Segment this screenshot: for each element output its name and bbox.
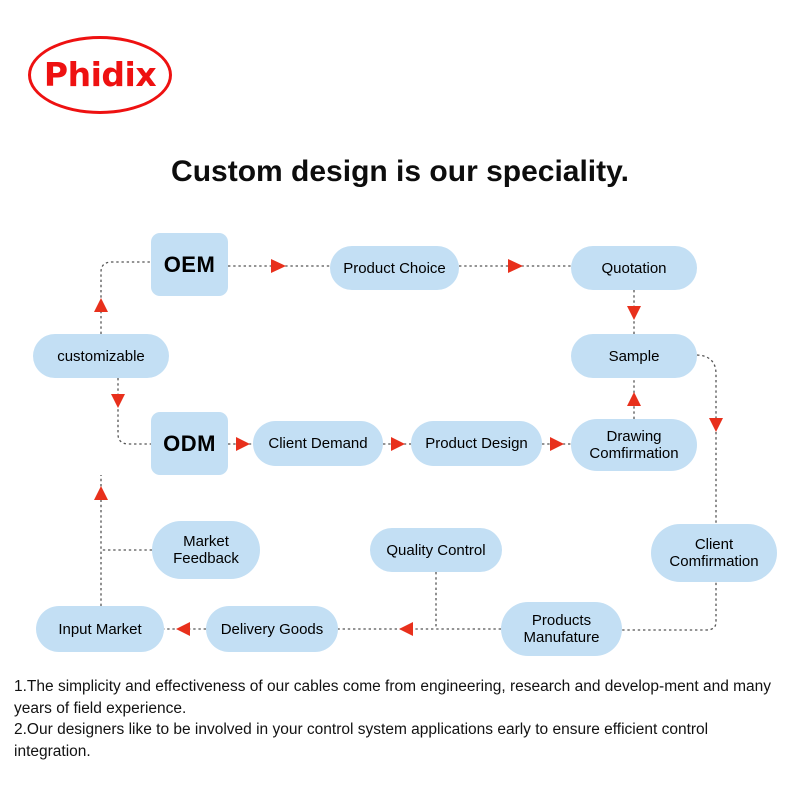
- arrowhead-odm-client-demand: [236, 437, 250, 451]
- node-products-manufature[interactable]: ProductsManufature: [501, 602, 622, 656]
- arrowhead-customizable-oem: [94, 298, 108, 312]
- node-product-design[interactable]: Product Design: [411, 421, 542, 466]
- node-odm[interactable]: ODM: [151, 412, 228, 475]
- node-client-comfirmation[interactable]: ClientComfirmation: [651, 524, 777, 582]
- node-quotation[interactable]: Quotation: [571, 246, 697, 290]
- arrowhead-product-choice-quotation: [508, 259, 523, 273]
- node-product-choice[interactable]: Product Choice: [330, 246, 459, 290]
- edge-customizable-oem: [101, 262, 151, 334]
- node-client-demand[interactable]: Client Demand: [253, 421, 383, 466]
- footer-note-2: 2.Our designers like to be involved in y…: [14, 719, 788, 762]
- node-delivery-goods[interactable]: Delivery Goods: [206, 606, 338, 652]
- node-oem[interactable]: OEM: [151, 233, 228, 296]
- node-market-feedback[interactable]: MarketFeedback: [152, 521, 260, 579]
- footer-notes: 1.The simplicity and effectiveness of ou…: [14, 676, 788, 762]
- arrowhead-product-design-drawing: [550, 437, 564, 451]
- arrowhead-drawing-sample: [627, 392, 641, 406]
- arrowhead-products-delivery: [399, 622, 413, 636]
- node-quality-control[interactable]: Quality Control: [370, 528, 502, 572]
- footer-note-1: 1.The simplicity and effectiveness of ou…: [14, 676, 788, 719]
- arrowhead-input-market-odm: [94, 486, 108, 500]
- arrowhead-delivery-input-market: [176, 622, 190, 636]
- node-input-market[interactable]: Input Market: [36, 606, 164, 652]
- edge-customizable-odm: [118, 378, 151, 444]
- arrowhead-oem-product-choice: [271, 259, 286, 273]
- node-sample[interactable]: Sample: [571, 334, 697, 378]
- arrowhead-quotation-sample: [627, 306, 641, 320]
- arrowhead-customizable-odm: [111, 394, 125, 408]
- arrowhead-client-demand-product-design: [391, 437, 405, 451]
- arrowhead-sample-down: [709, 418, 723, 432]
- node-drawing-comfirmation[interactable]: DrawingComfirmation: [571, 419, 697, 471]
- node-customizable[interactable]: customizable: [33, 334, 169, 378]
